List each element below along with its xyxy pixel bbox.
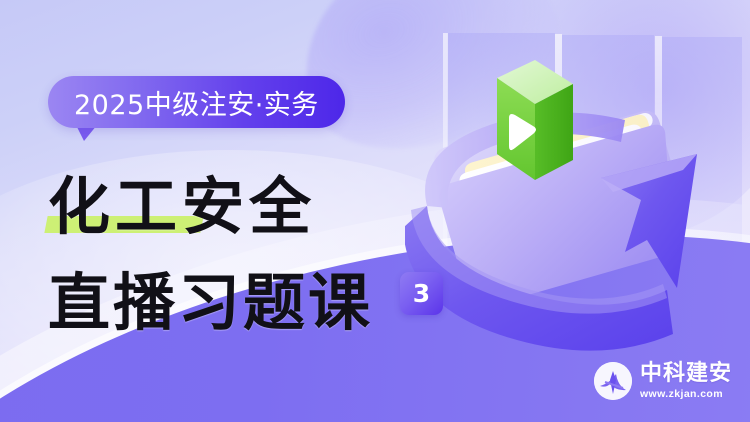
episode-number-label: 3 [413, 279, 430, 308]
course-illustration [405, 10, 750, 380]
course-category-label: 2025中级注安·实务 [74, 83, 319, 122]
brand-logo-icon [594, 362, 632, 400]
course-category-badge[interactable]: 2025中级注安·实务 [48, 76, 345, 128]
brand-logo-text: 中科建安 www.zkjan.com [640, 363, 732, 400]
course-banner: 2025中级注安·实务 化工安全 直播习题课 3 中科建安 www.zkjan.… [0, 0, 750, 422]
brand-logo[interactable]: 中科建安 www.zkjan.com [594, 362, 732, 400]
brand-name: 中科建安 [640, 363, 732, 385]
page-title-line-1: 化工安全 [48, 156, 316, 246]
page-title-line-2: 直播习题课 [48, 252, 373, 342]
episode-number-badge[interactable]: 3 [400, 272, 443, 315]
brand-url: www.zkjan.com [640, 389, 732, 400]
